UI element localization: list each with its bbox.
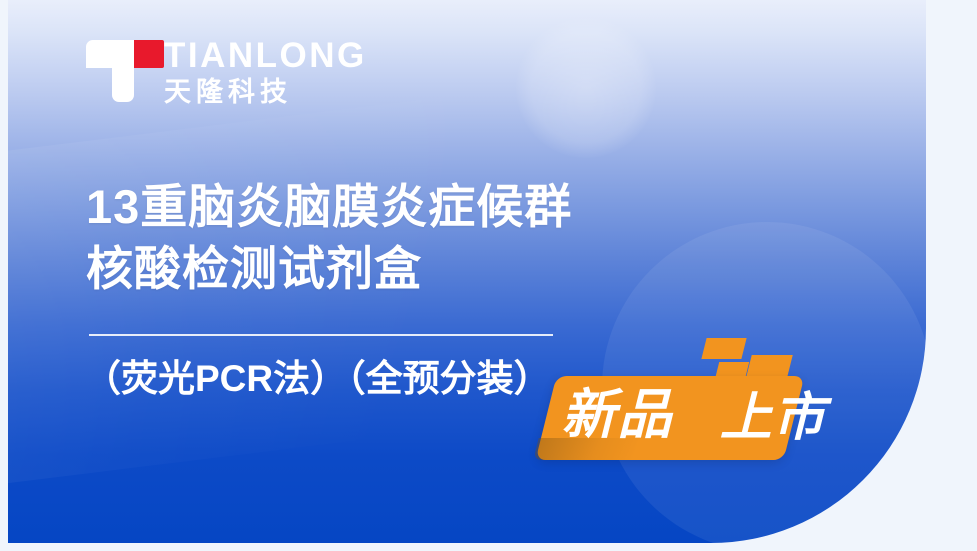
banner-blue-panel: TIANLONG 天隆科技 13重脑炎脑膜炎症候群 核酸检测试剂盒 （荧光PCR… — [8, 0, 926, 543]
badge-tag-label: 新品 — [559, 388, 684, 442]
badge-accent-block-2 — [746, 355, 792, 377]
brand-name-block: TIANLONG 天隆科技 — [164, 36, 367, 108]
background-glow-top — [516, 18, 656, 158]
background-circle-highlight — [602, 222, 926, 543]
headline-divider — [89, 334, 553, 336]
product-subtitle: （荧光PCR法）（全预分装） — [84, 357, 551, 401]
brand-name-cn: 天隆科技 — [164, 77, 367, 108]
product-launch-banner: TIANLONG 天隆科技 13重脑炎脑膜炎症候群 核酸检测试剂盒 （荧光PCR… — [0, 0, 977, 551]
brand-logo-lockup: TIANLONG 天隆科技 — [86, 36, 367, 108]
badge-accent-block-1 — [701, 338, 746, 359]
headline-line-1: 13重脑炎脑膜炎症候群 — [86, 176, 572, 238]
badge-accent-block-3 — [705, 362, 749, 420]
product-headline: 13重脑炎脑膜炎症候群 核酸检测试剂盒 — [86, 176, 572, 300]
logo-mark-notch — [112, 66, 134, 76]
headline-line-2: 核酸检测试剂盒 — [86, 238, 572, 300]
new-product-badge: 新品 上市 — [528, 330, 888, 500]
brand-name-en: TIANLONG — [164, 38, 367, 73]
badge-tag-shadow — [533, 438, 638, 460]
tianlong-t-logo-icon — [86, 36, 148, 106]
logo-mark-red-square — [130, 40, 164, 68]
badge-sub-label: 上市 — [718, 392, 837, 444]
badge-tag-shape — [536, 376, 805, 460]
